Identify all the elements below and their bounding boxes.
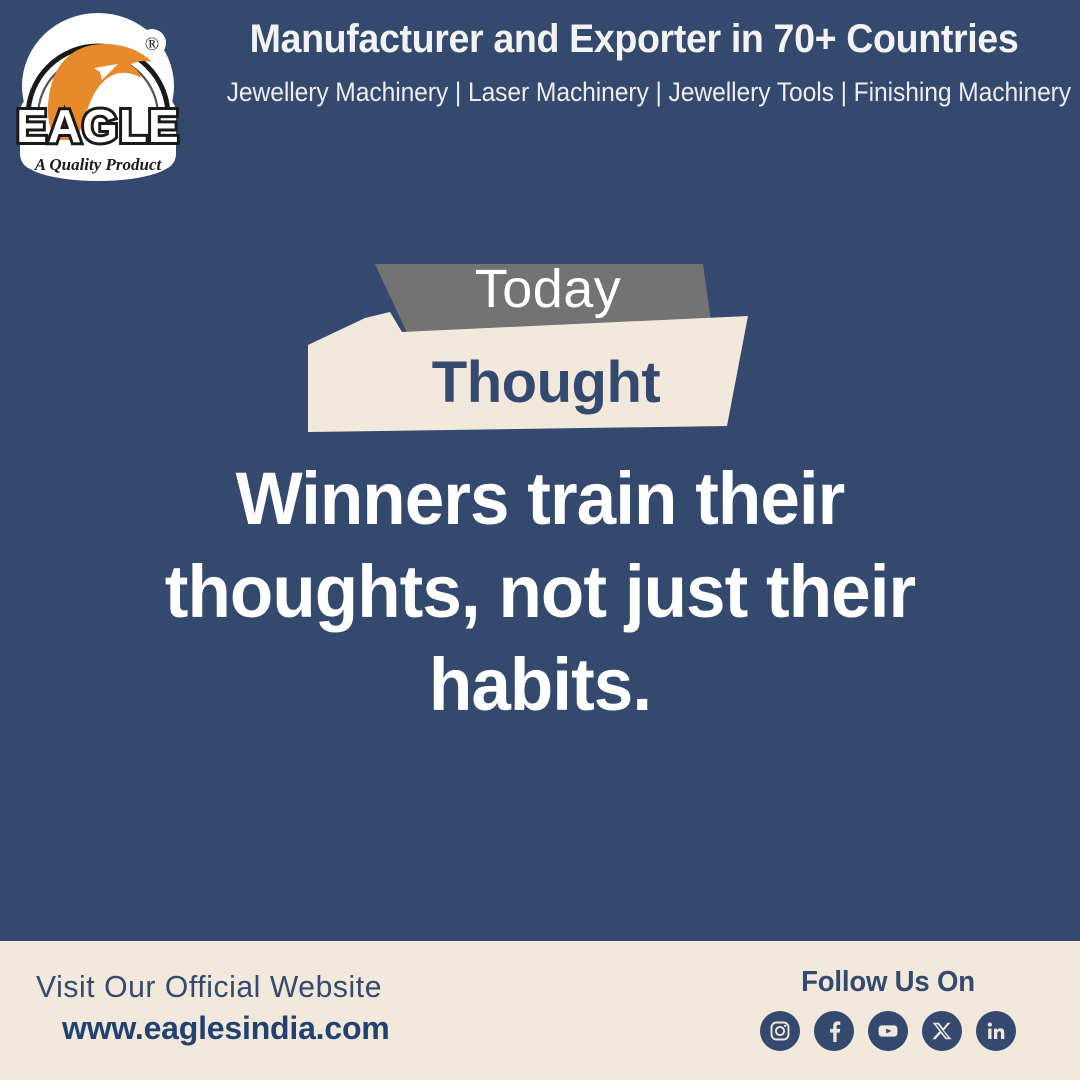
subheading: Jewellery Machinery | Laser Machinery | … [227,77,1042,109]
visit-website-label: Visit Our Official Website [36,969,382,1006]
youtube-icon[interactable] [868,1011,908,1051]
instagram-icon[interactable] [760,1011,800,1051]
social-media-post: ® EAGLE A Quality Product Manufacturer a… [0,0,1080,1080]
facebook-icon[interactable] [814,1011,854,1051]
website-url[interactable]: www.eaglesindia.com [62,1010,393,1048]
registered-trademark-icon: ® [145,34,159,55]
footer: Visit Our Official Website www.eaglesind… [0,941,1080,1080]
headline: Manufacturer and Exporter in 70+ Countri… [222,16,1045,63]
social-icon-row [760,1011,1016,1051]
today-thought-banner: Today Thought [290,250,790,450]
follow-us-label: Follow Us On [766,965,1009,1000]
logo-wordmark: EAGLE [16,100,179,152]
linkedin-icon[interactable] [976,1011,1016,1051]
x-twitter-icon[interactable] [922,1011,962,1051]
banner-cream-shape [308,312,748,432]
footer-website-block: Visit Our Official Website www.eaglesind… [36,969,393,1047]
logo-tagline: A Quality Product [34,155,163,174]
footer-social-block: Follow Us On [760,965,1016,1051]
header-text-block: Manufacturer and Exporter in 70+ Countri… [196,16,1072,109]
quote-text: Winners train their thoughts, not just t… [127,452,953,732]
header: ® EAGLE A Quality Product Manufacturer a… [0,0,1080,190]
eagle-logo: ® EAGLE A Quality Product [12,8,184,184]
